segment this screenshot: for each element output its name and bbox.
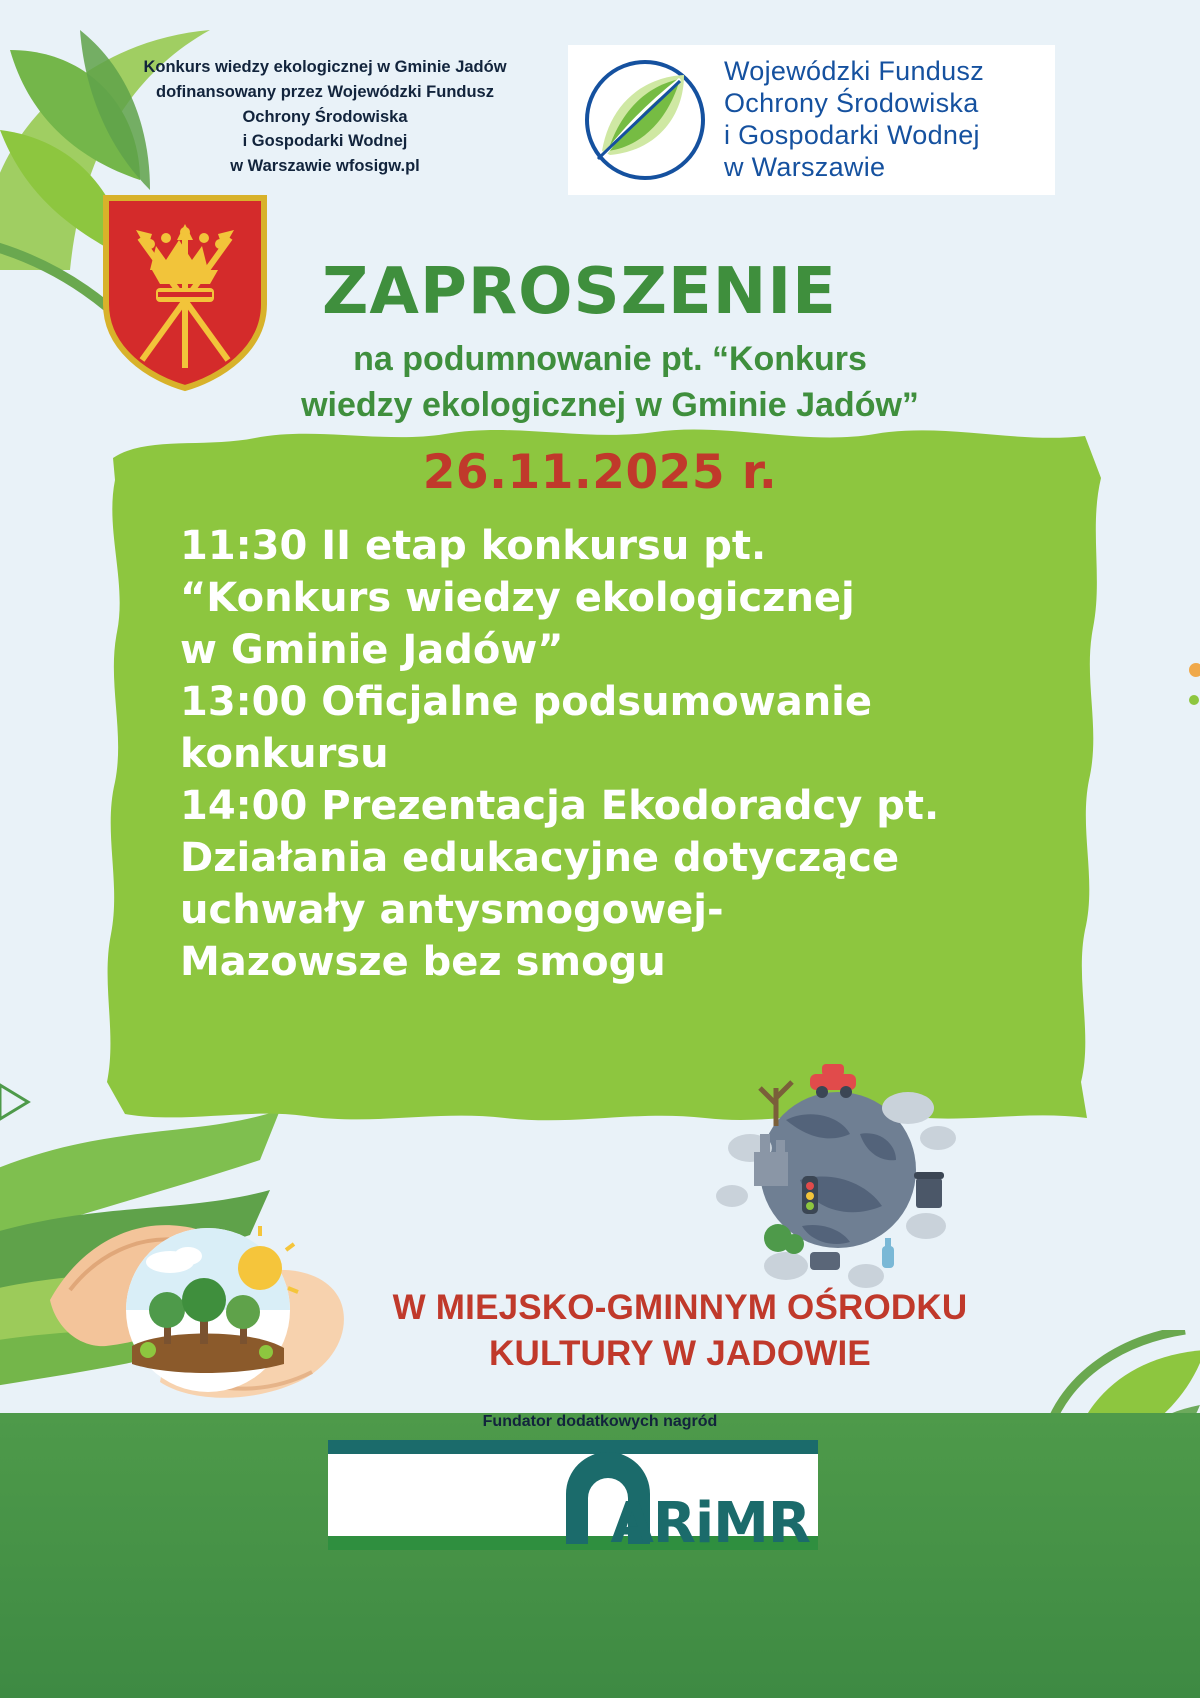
hands-holding-forest-icon (40, 1150, 370, 1420)
wfosigw-line-3: i Gospodarki Wodnej (724, 120, 984, 152)
wfosigw-line-2: Ochrony Środowiska (724, 88, 984, 120)
schedule-line-8: uchwały antysmogowej- (180, 884, 970, 936)
event-schedule: 11:30 II etap konkursu pt. “Konkurs wied… (180, 520, 970, 988)
schedule-line-3: w Gminie Jadów” (180, 624, 970, 676)
wfosigw-logo-text: Wojewódzki Fundusz Ochrony Środowiska i … (724, 56, 984, 183)
funder-note: Konkurs wiedzy ekologicznej w Gminie Jad… (110, 55, 540, 179)
page-subtitle-line-1: na podumnowanie pt. “Konkurs (240, 337, 980, 383)
dot-decoration-right (1174, 660, 1200, 720)
schedule-line-6: 14:00 Prezentacja Ekodoradcy pt. (180, 780, 970, 832)
page-subtitle: na podumnowanie pt. “Konkurs wiedzy ekol… (240, 337, 980, 429)
schedule-line-4: 13:00 Oficjalne podsumowanie (180, 676, 970, 728)
schedule-line-9: Mazowsze bez smogu (180, 936, 970, 988)
funder-note-line-2: dofinansowany przez Wojewódzki Fundusz (110, 80, 540, 105)
funder-note-line-1: Konkurs wiedzy ekologicznej w Gminie Jad… (110, 55, 540, 80)
venue-line-1: W MIEJSKO-GMINNYM OŚRODKU (330, 1285, 1030, 1331)
schedule-line-5: konkursu (180, 728, 970, 780)
schedule-line-2: “Konkurs wiedzy ekologicznej (180, 572, 970, 624)
funder-note-line-5: w Warszawie wfosigw.pl (110, 154, 540, 179)
leaf-in-circle-icon (580, 55, 710, 185)
funder-note-line-4: i Gospodarki Wodnej (110, 129, 540, 154)
footer-label: Fundator dodatkowych nagród (0, 1413, 1200, 1431)
event-date: 26.11.2025 r. (0, 445, 1200, 500)
arimr-logo-text: ARiMR (610, 1491, 810, 1550)
wfosigw-logo: Wojewódzki Fundusz Ochrony Środowiska i … (568, 45, 1055, 195)
schedule-line-7: Działania edukacyjne dotyczące (180, 832, 970, 884)
leaf-decoration-left-green-strokes (0, 1040, 380, 1420)
poster-root: Konkurs wiedzy ekologicznej w Gminie Jad… (0, 0, 1200, 1698)
venue-text: W MIEJSKO-GMINNYM OŚRODKU KULTURY W JADO… (330, 1285, 1030, 1376)
polluted-globe-icon (690, 1030, 970, 1300)
funder-note-line-3: Ochrony Środowiska (110, 105, 540, 130)
arimr-logo: ARiMR (328, 1440, 818, 1550)
schedule-line-1: 11:30 II etap konkursu pt. (180, 520, 970, 572)
page-title: ZAPROSZENIE (322, 255, 837, 329)
wfosigw-line-4: w Warszawie (724, 152, 984, 184)
venue-line-2: KULTURY W JADOWIE (330, 1331, 1030, 1377)
wfosigw-line-1: Wojewódzki Fundusz (724, 56, 984, 88)
page-subtitle-line-2: wiedzy ekologicznej w Gminie Jadów” (240, 383, 980, 429)
